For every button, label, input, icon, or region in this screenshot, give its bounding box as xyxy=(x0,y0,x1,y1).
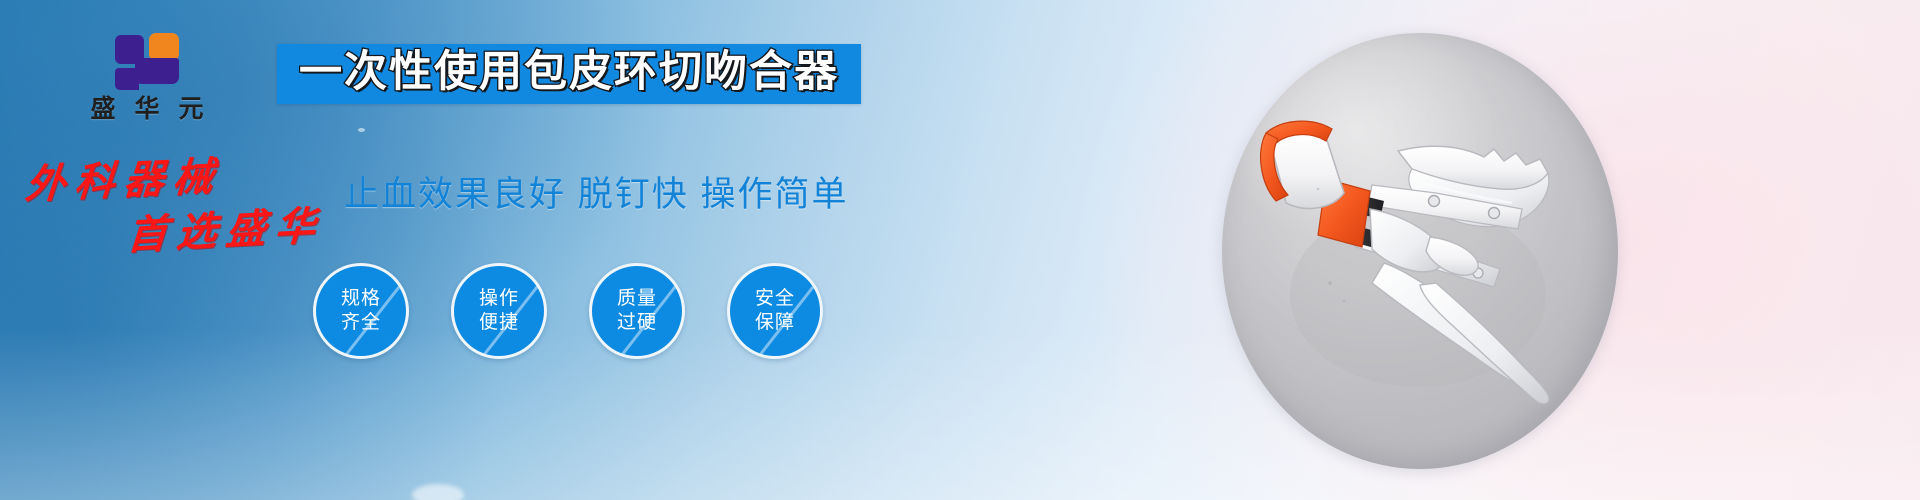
calligraphy-line-2: 首选盛华 xyxy=(125,193,326,261)
background-speck xyxy=(358,128,365,132)
feature-badge-line-1: 安全 xyxy=(755,287,795,311)
calligraphy-slogan: 外科器械 首选盛华 xyxy=(18,148,348,258)
product-title-bar: 一次性使用包皮环切吻合器 xyxy=(277,44,861,104)
feature-badge-line-2: 便捷 xyxy=(479,311,519,335)
brand-name: 盛 华 元 xyxy=(60,96,240,124)
feature-badge-line-1: 规格 xyxy=(341,287,381,311)
page-title: 一次性使用包皮环切吻合器 xyxy=(299,50,839,96)
feature-badge[interactable]: 操作 便捷 xyxy=(451,263,547,359)
feature-badge-line-2: 保障 xyxy=(755,311,795,335)
feature-badge-line-2: 齐全 xyxy=(341,311,381,335)
brand-logo: 盛 华 元 xyxy=(60,28,240,124)
feature-badge-line-2: 过硬 xyxy=(617,311,657,335)
background-bottom-glow xyxy=(0,330,1920,500)
feature-badge[interactable]: 质量 过硬 xyxy=(589,263,685,359)
promo-banner: 盛 华 元 外科器械 首选盛华 一次性使用包皮环切吻合器 止血效果良好 脱钉快 … xyxy=(0,0,1920,500)
circumcision-stapler-illustration xyxy=(1222,33,1618,469)
feature-badge[interactable]: 规格 齐全 xyxy=(313,263,409,359)
subtitle: 止血效果良好 脱钉快 操作简单 xyxy=(344,166,848,217)
feature-badge-line-1: 操作 xyxy=(479,287,519,311)
shenghuayuan-blocks-logo-icon xyxy=(115,28,185,90)
feature-badge-line-1: 质量 xyxy=(617,287,657,311)
background-bottom-speck xyxy=(412,484,464,500)
product-image xyxy=(1222,33,1618,469)
feature-badge-list: 规格 齐全 操作 便捷 质量 过硬 安全 保障 xyxy=(313,263,823,359)
feature-badge[interactable]: 安全 保障 xyxy=(727,263,823,359)
